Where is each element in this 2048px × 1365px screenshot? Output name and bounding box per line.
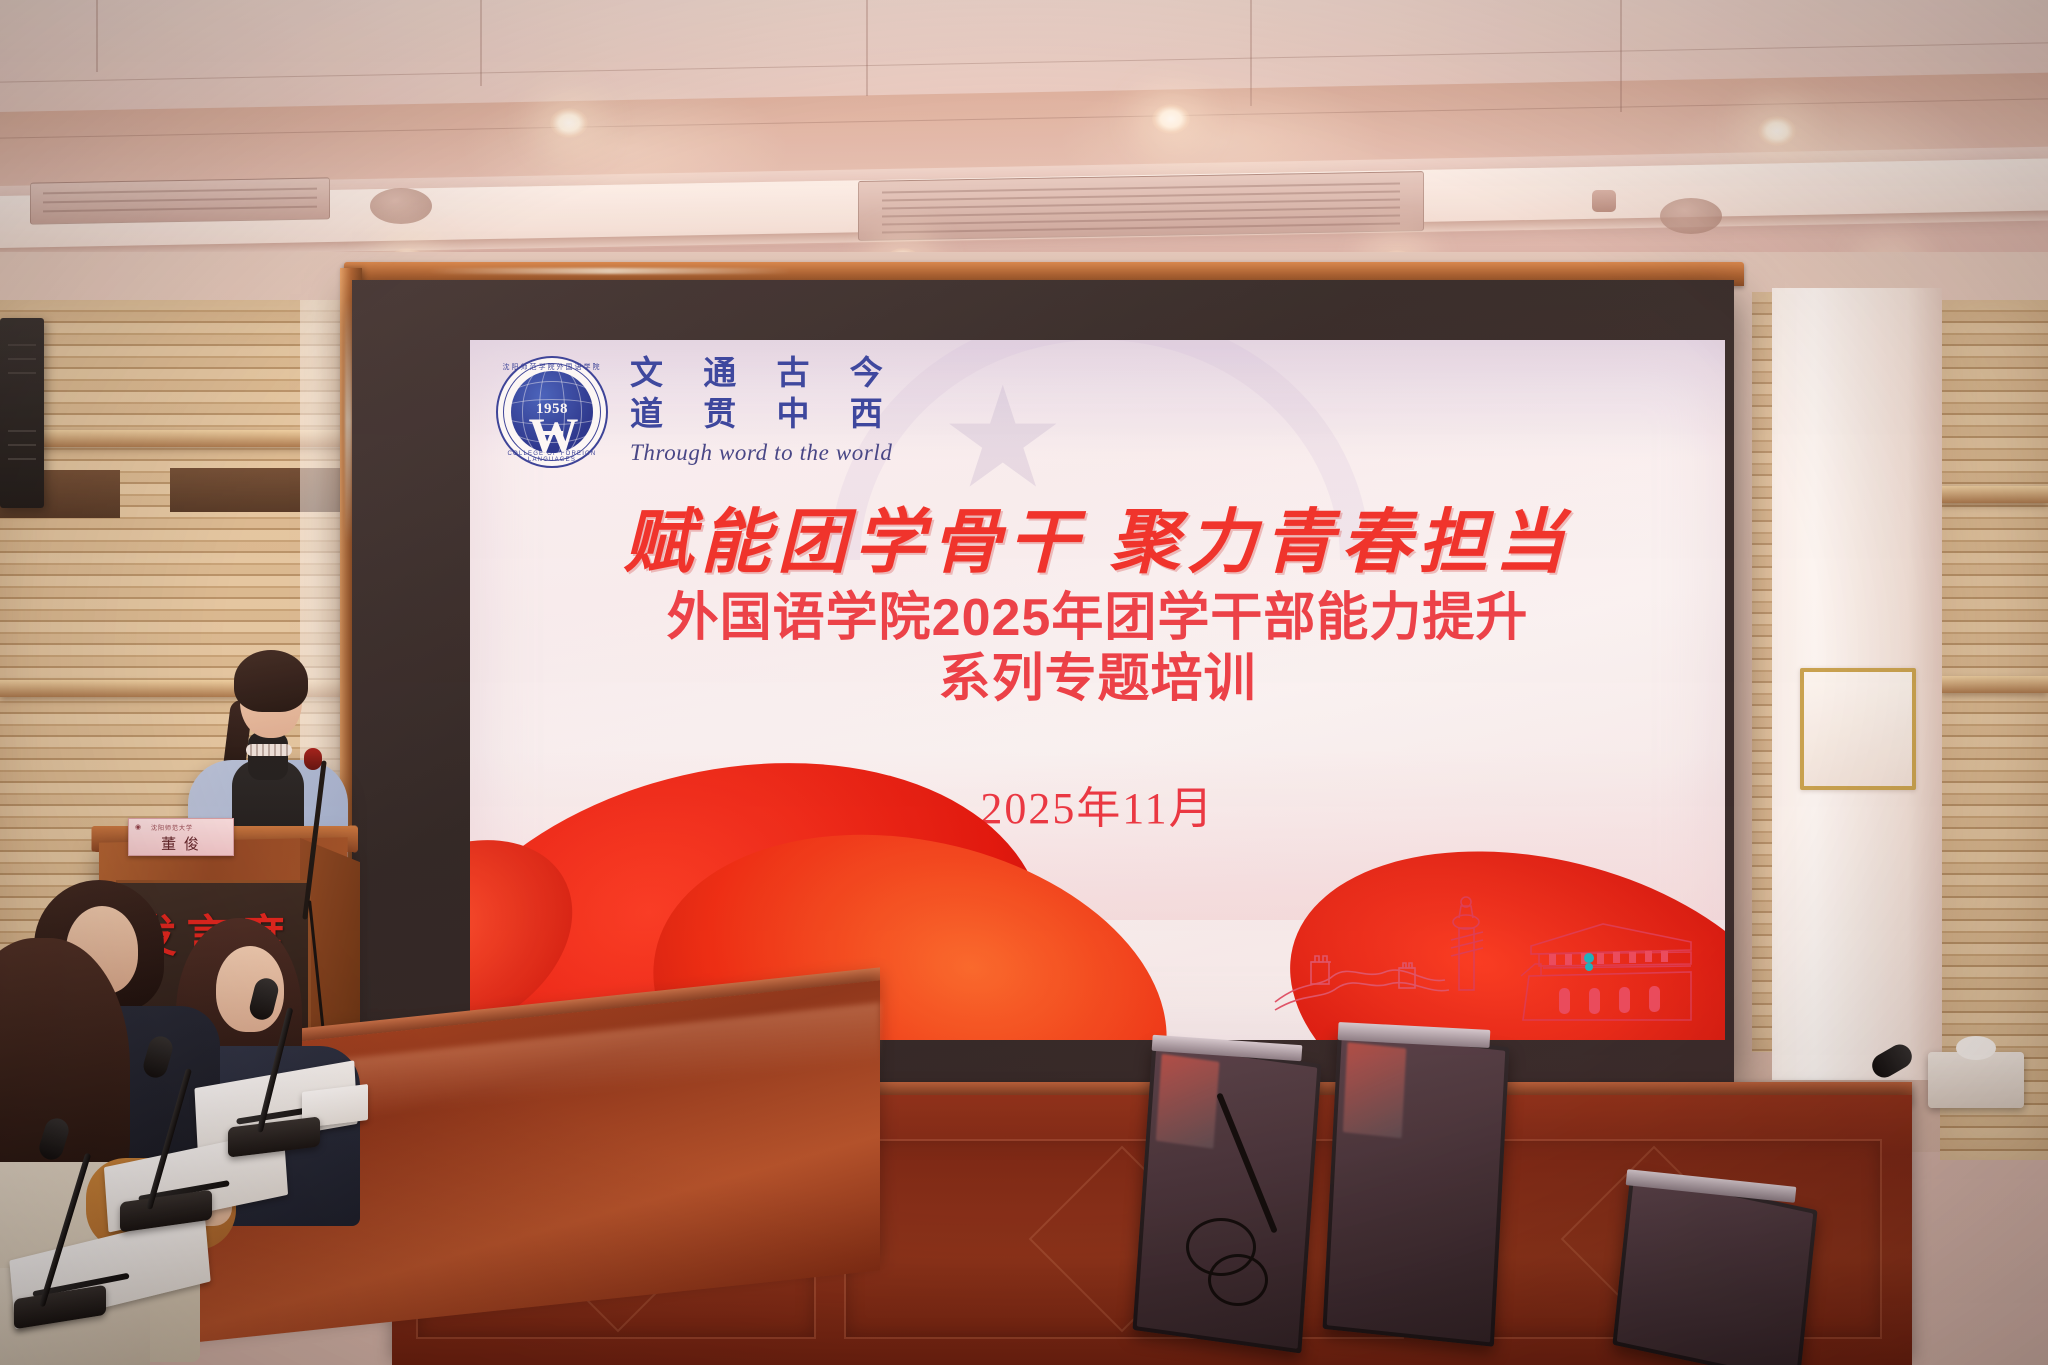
monitor-reflection [1156, 1053, 1219, 1148]
university-logo: 沈阳师范学院外国语学院 COLLEGE OF FOREIGN LANGUAGES… [496, 356, 608, 468]
speaker-hair [234, 650, 308, 712]
monitor-reflection [1343, 1042, 1406, 1138]
name-card-seal-icon: ◉ [135, 823, 141, 831]
downlight-icon [1758, 116, 1796, 146]
name-card-name: 董 俊 [129, 833, 233, 854]
wall-shelf [1940, 486, 2048, 503]
logo-monogram-bar [541, 431, 563, 435]
conference-monitor[interactable] [1323, 1029, 1510, 1347]
air-vent-secondary [30, 177, 330, 224]
downlight-icon [1152, 104, 1190, 134]
air-vent [858, 171, 1424, 241]
ceiling-panel-line [480, 0, 482, 86]
globe-icon: 1958 W [511, 371, 593, 453]
ceiling-speaker [1660, 198, 1722, 234]
name-card-org: 沈阳师范大学 [151, 823, 193, 832]
university-motto: 文 通 古 今 道 贯 中 西 [630, 354, 899, 437]
wood-slat-wall-right [1940, 300, 2048, 1160]
access-panel [1800, 668, 1916, 790]
landmark-lineart [1273, 884, 1703, 1034]
slide-subtitle: 外国语学院2025年团学干部能力提升 系列专题培训 [470, 588, 1725, 711]
monitor-screen [1617, 1175, 1813, 1365]
name-card: ◉ 沈阳师范大学 董 俊 [128, 818, 234, 856]
motto-line-2: 道 贯 中 西 [630, 395, 899, 436]
conference-hall-photo: ★ 沈阳师范学院外国语学院 COLLEGE OF FOREIGN LANGUAG… [0, 0, 2048, 1365]
conference-monitor[interactable] [1133, 1040, 1322, 1353]
motto-line-1: 文 通 古 今 [630, 354, 899, 395]
cable-coil [1208, 1254, 1268, 1306]
slide-subtitle-line-2: 系列专题培训 [470, 649, 1725, 710]
downlight-icon [550, 108, 588, 138]
speaker-necklace [246, 744, 292, 756]
motto-english: Through word to the world [630, 440, 893, 466]
tissue-sheet [1956, 1036, 1996, 1060]
tissue-box[interactable] [1928, 1052, 2024, 1108]
podium-microphone-head [304, 748, 322, 770]
ceiling-speaker [370, 188, 432, 224]
slide-headline: 赋能团学骨干 聚力青春担当 [470, 486, 1725, 587]
speaker-neck [248, 732, 288, 780]
wall-shelf [1940, 676, 2048, 693]
presentation-slide: ★ 沈阳师范学院外国语学院 COLLEGE OF FOREIGN LANGUAG… [470, 340, 1725, 1040]
ceiling-panel-line [1620, 0, 1622, 112]
slide-subtitle-line-1: 外国语学院2025年团学干部能力提升 [470, 588, 1725, 649]
wall-speaker [0, 318, 44, 508]
smoke-detector-icon [1592, 190, 1616, 212]
ceiling-panel-line [866, 0, 868, 96]
ceiling-panel-line [96, 0, 98, 72]
